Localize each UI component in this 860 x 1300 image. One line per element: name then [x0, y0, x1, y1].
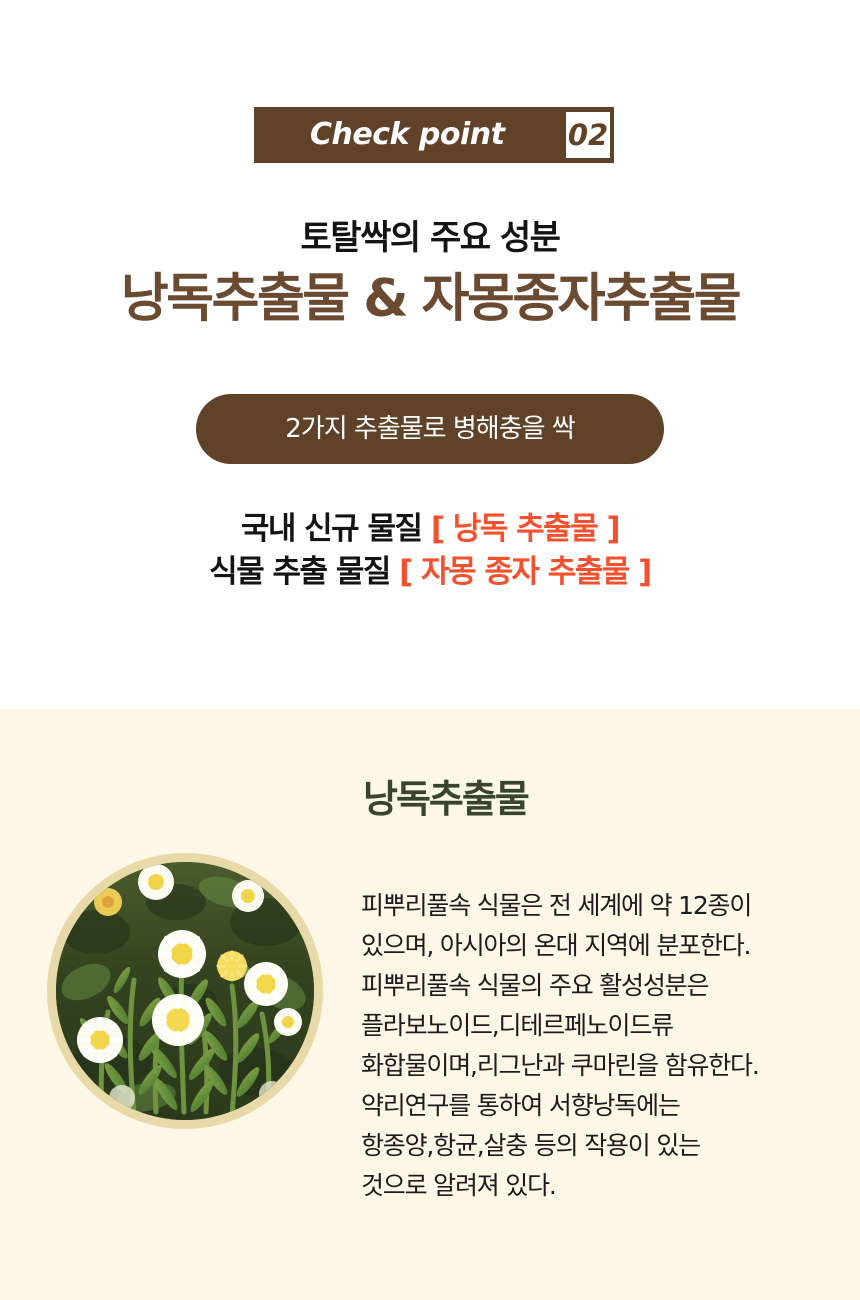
extract-detail-section: 낭독추출물 피뿌리풀속 식물은 전 세계에 약 12종이 있으며, 아시아의 온… [0, 709, 860, 1300]
description-line: 있으며, 아시아의 온대 지역에 분포한다. [361, 926, 860, 966]
material-line-accent: [ 낭독 추출물 ] [431, 511, 619, 547]
description-line: 것으로 알려져 있다. [361, 1166, 860, 1206]
extract-description: 피뿌리풀속 식물은 전 세계에 약 12종이 있으며, 아시아의 온대 지역에 … [361, 886, 860, 1206]
description-line: 항종양,항균,살충 등의 작용이 있는 [361, 1126, 860, 1166]
material-line-prefix: 국내 신규 물질 [241, 511, 431, 547]
material-line-accent: [ 자몽 종자 추출물 ] [399, 554, 651, 590]
checkpoint-number-box: 02 [566, 112, 610, 158]
description-line: 피뿌리풀속 식물의 주요 활성성분은 [361, 966, 860, 1006]
checkpoint-banner: Check point 02 [254, 107, 614, 163]
description-line: 플라보노이드,디테르페노이드류 [361, 1006, 860, 1046]
tagline-pill-label: 2가지 추출물로 병해충을 싹 [285, 416, 574, 442]
intro-section: Check point 02 토탈싹의 주요 성분 낭독추출물 & 자몽종자추출… [0, 0, 860, 709]
plant-photo-illustration [56, 862, 314, 1120]
checkpoint-label: Check point [310, 120, 504, 150]
tagline-pill: 2가지 추출물로 병해충을 싹 [196, 394, 664, 464]
material-line-prefix: 식물 추출 물질 [209, 554, 399, 590]
product-detail-page: Check point 02 토탈싹의 주요 성분 낭독추출물 & 자몽종자추출… [0, 0, 860, 1300]
extract-title: 낭독추출물 [363, 779, 528, 821]
description-line: 화합물이며,리그난과 쿠마린을 함유한다. [361, 1046, 860, 1086]
material-list: 국내 신규 물질 [ 낭독 추출물 ] 식물 추출 물질 [ 자몽 종자 추출물… [0, 508, 860, 594]
material-line: 국내 신규 물질 [ 낭독 추출물 ] [0, 508, 860, 551]
checkpoint-number: 02 [568, 121, 608, 150]
description-line: 약리연구를 통하여 서향낭독에는 [361, 1086, 860, 1126]
sub-heading: 토탈싹의 주요 성분 [0, 220, 860, 257]
material-line: 식물 추출 물질 [ 자몽 종자 추출물 ] [0, 551, 860, 594]
plant-photo-ring [47, 853, 323, 1129]
plant-photo [56, 862, 314, 1120]
page-title: 낭독추출물 & 자몽종자추출물 [0, 270, 860, 330]
description-line: 피뿌리풀속 식물은 전 세계에 약 12종이 [361, 886, 860, 926]
